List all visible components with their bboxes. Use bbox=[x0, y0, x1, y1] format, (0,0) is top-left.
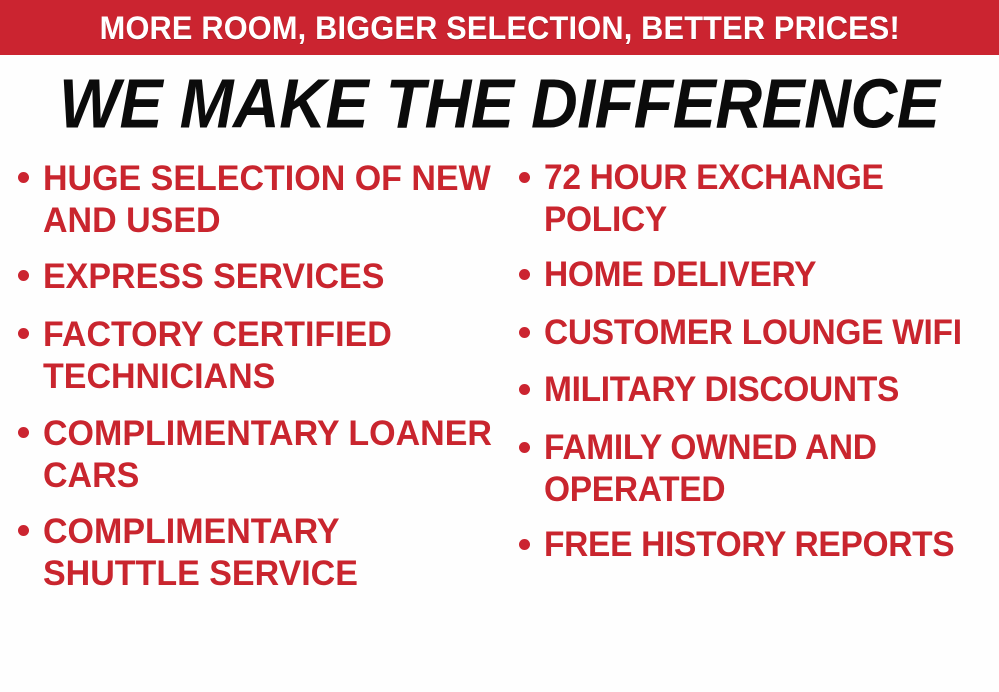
features-columns: HUGE SELECTION OF NEW AND USED EXPRESS S… bbox=[0, 158, 999, 692]
list-item: EXPRESS SERVICES bbox=[18, 256, 501, 296]
features-column-left: HUGE SELECTION OF NEW AND USED EXPRESS S… bbox=[0, 158, 505, 609]
list-item: COMPLIMENTARY SHUTTLE SERVICE bbox=[18, 511, 501, 591]
list-item-label: EXPRESS SERVICES bbox=[43, 256, 384, 298]
list-item-label: COMPLIMENTARY LOANER CARS bbox=[43, 413, 501, 496]
list-item-label: 72 HOUR EXCHANGE POLICY bbox=[544, 158, 997, 240]
list-item-label: HUGE SELECTION OF NEW AND USED bbox=[43, 158, 501, 241]
bullet-dot-icon bbox=[519, 269, 530, 280]
bullet-dot-icon bbox=[18, 525, 29, 536]
bullet-dot-icon bbox=[519, 442, 530, 453]
bullet-dot-icon bbox=[519, 172, 530, 183]
list-item: FACTORY CERTIFIED TECHNICIANS bbox=[18, 314, 501, 394]
list-item: MILITARY DISCOUNTS bbox=[519, 370, 997, 410]
bullet-dot-icon bbox=[18, 328, 29, 339]
promo-banner-text: MORE ROOM, BIGGER SELECTION, BETTER PRIC… bbox=[99, 12, 899, 44]
list-item: COMPLIMENTARY LOANER CARS bbox=[18, 413, 501, 493]
list-item-label: MILITARY DISCOUNTS bbox=[544, 370, 899, 411]
bullet-dot-icon bbox=[519, 539, 530, 550]
bullet-dot-icon bbox=[18, 427, 29, 438]
bullet-dot-icon bbox=[519, 327, 530, 338]
list-item: 72 HOUR EXCHANGE POLICY bbox=[519, 158, 997, 237]
list-item-label: FAMILY OWNED AND OPERATED bbox=[544, 428, 997, 510]
list-item-label: HOME DELIVERY bbox=[544, 255, 816, 296]
page-title: WE MAKE THE DIFFERENCE bbox=[0, 68, 999, 134]
list-item: HUGE SELECTION OF NEW AND USED bbox=[18, 158, 501, 238]
list-item: HOME DELIVERY bbox=[519, 255, 997, 295]
list-item: FREE HISTORY REPORTS bbox=[519, 525, 997, 565]
list-item: FAMILY OWNED AND OPERATED bbox=[519, 428, 997, 507]
page-title-text: WE MAKE THE DIFFERENCE bbox=[59, 68, 939, 138]
features-column-right: 72 HOUR EXCHANGE POLICY HOME DELIVERY CU… bbox=[505, 158, 999, 582]
advertisement-banner: MORE ROOM, BIGGER SELECTION, BETTER PRIC… bbox=[0, 0, 999, 692]
bullet-dot-icon bbox=[18, 172, 29, 183]
list-item-label: FACTORY CERTIFIED TECHNICIANS bbox=[43, 314, 501, 397]
list-item-label: FREE HISTORY REPORTS bbox=[544, 525, 954, 566]
list-item-label: CUSTOMER LOUNGE WIFI bbox=[544, 313, 962, 354]
promo-banner: MORE ROOM, BIGGER SELECTION, BETTER PRIC… bbox=[0, 0, 999, 55]
bullet-dot-icon bbox=[18, 270, 29, 281]
bullet-dot-icon bbox=[519, 384, 530, 395]
list-item-label: COMPLIMENTARY SHUTTLE SERVICE bbox=[43, 511, 501, 594]
list-item: CUSTOMER LOUNGE WIFI bbox=[519, 313, 997, 353]
